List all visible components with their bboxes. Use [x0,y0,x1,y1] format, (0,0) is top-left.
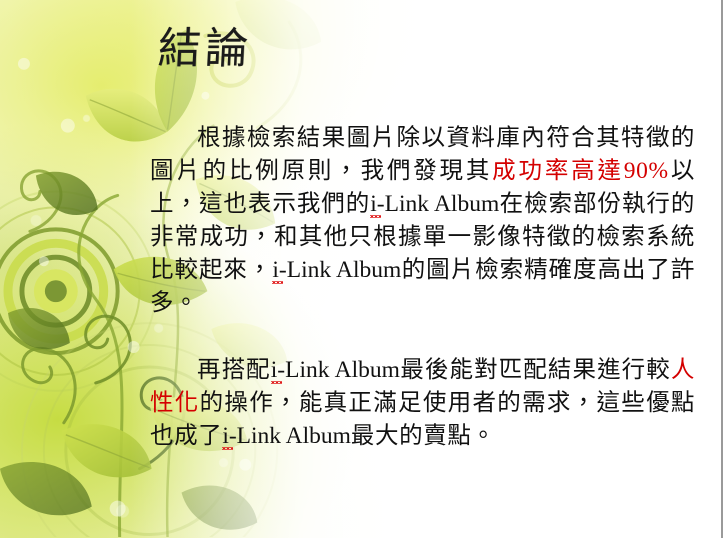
highlighted-text: 成功率高達90% [492,158,668,184]
slide-content: 結論 根據檢索結果圖片除以資料庫內符合其特徵的圖片的比例原則，我們發現其成功率高… [0,0,721,538]
spellcheck-underline: i- [222,423,236,449]
product-name-text: i-Link Album [272,257,401,283]
spellcheck-underline: i- [271,357,285,383]
body-text-run: 最後能對匹配結果進行較 [400,357,671,383]
body-paragraph-2: 再搭配i-Link Album最後能對匹配結果進行較人性化的操作，能真正滿足使用… [150,354,695,453]
body-paragraph-1: 根據檢索結果圖片除以資料庫內符合其特徵的圖片的比例原則，我們發現其成功率高達90… [150,122,695,320]
body-text-run: 再搭配 [197,357,271,383]
slide-title: 結論 [157,25,254,74]
spellcheck-underline: i- [370,191,384,217]
product-name-text: i-Link Album [222,423,351,449]
product-name-text: i-Link Album [271,357,400,383]
spellcheck-underline: i- [272,257,286,283]
body-text-run: 最大的賣點。 [351,423,496,449]
product-name-text: i-Link Album [370,191,499,217]
presentation-slide: 結論 根據檢索結果圖片除以資料庫內符合其特徵的圖片的比例原則，我們發現其成功率高… [0,0,723,538]
slide-body: 根據檢索結果圖片除以資料庫內符合其特徵的圖片的比例原則，我們發現其成功率高達90… [150,122,695,453]
